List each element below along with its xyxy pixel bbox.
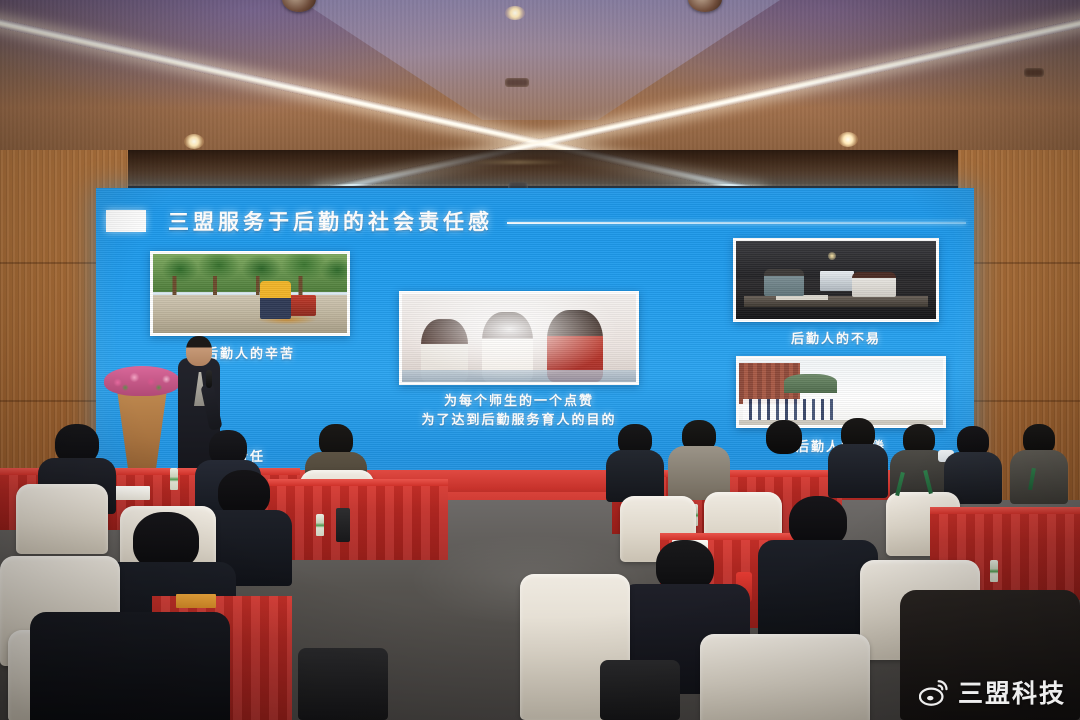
weibo-icon	[919, 677, 949, 707]
table-edge	[268, 479, 448, 486]
photo-students-classroom	[399, 291, 639, 385]
bag	[298, 648, 388, 720]
caption-difficulty: 后勤人的不易	[733, 328, 939, 347]
wall-shadow-band	[0, 150, 1080, 184]
chair	[16, 484, 108, 554]
watermark-brand: 三盟科技	[958, 674, 1066, 710]
chair	[700, 634, 870, 720]
caption-hardship: 后勤人的辛苦	[150, 343, 350, 362]
attendee	[944, 426, 1002, 502]
flower-arrangement	[104, 366, 180, 396]
water-bottle	[316, 514, 324, 536]
attendee	[1010, 424, 1068, 502]
attendee	[752, 420, 816, 500]
attendee	[668, 420, 730, 498]
presenter-head	[186, 336, 212, 366]
slide-title: 三盟服务于后勤的社会责任感	[168, 206, 493, 236]
slide-title-row: 三盟服务于后勤的社会责任感	[106, 204, 966, 238]
water-bottle	[990, 560, 998, 582]
table-row	[268, 482, 448, 560]
attendee	[828, 418, 888, 496]
caption-center-line1: 为每个师生的一个点赞	[379, 391, 659, 410]
paper-documents	[176, 594, 216, 608]
attendee	[606, 424, 664, 500]
microphone	[206, 370, 212, 388]
water-bottle	[170, 468, 178, 490]
black-thermos	[336, 508, 350, 542]
photo-campus-sweeping	[150, 251, 350, 336]
photo-staff-asleep-desk	[733, 238, 939, 322]
title-rule	[507, 222, 966, 224]
title-accent-mark	[106, 210, 146, 232]
bag	[600, 660, 680, 720]
conference-hall-photo: 三盟服务于后勤的社会责任感 后勤人的辛苦 责任 为每个师生的一个点赞 为了达到后…	[0, 0, 1080, 720]
table-edge	[930, 507, 1080, 514]
attendee	[30, 612, 230, 720]
watermark: 三盟科技	[919, 674, 1066, 710]
